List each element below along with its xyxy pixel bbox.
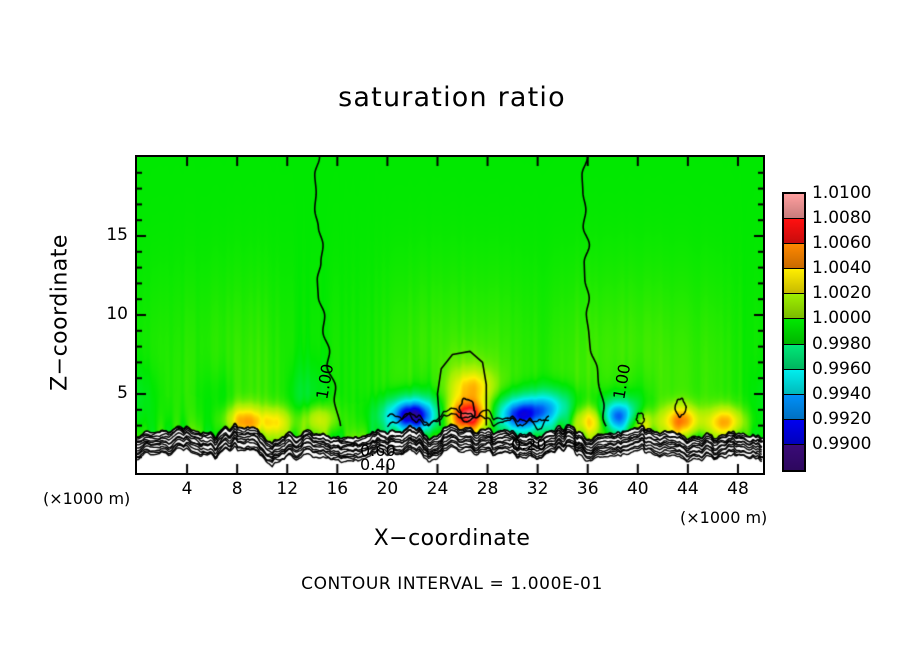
- colorbar-band-0.9920: [784, 420, 804, 445]
- colorbar-label-0.9920: 0.9920: [812, 409, 871, 429]
- x-tick-label-28: 28: [468, 479, 508, 499]
- colorbar-label-0.9940: 0.9940: [812, 384, 871, 404]
- colorbar-band-1.0060: [784, 244, 804, 269]
- colorbar-label-1.0020: 1.0020: [812, 283, 871, 303]
- y-axis-unit: (×1000 m): [43, 489, 130, 508]
- contour-field-canvas: [137, 157, 763, 473]
- x-axis-label: X−coordinate: [0, 526, 904, 551]
- y-axis-label: Z−coordinate: [48, 213, 73, 413]
- colorbar-band-1.0100: [784, 194, 804, 219]
- x-tick-label-12: 12: [267, 479, 307, 499]
- contour-label: 0.20: [511, 435, 547, 454]
- x-tick-label-48: 48: [718, 479, 758, 499]
- colorbar-label-1.0080: 1.0080: [812, 208, 871, 228]
- x-tick-label-44: 44: [668, 479, 708, 499]
- x-tick-label-20: 20: [367, 479, 407, 499]
- colorbar: [782, 192, 806, 472]
- x-tick-label-4: 4: [167, 479, 207, 499]
- colorbar-band-0.9940: [784, 395, 804, 420]
- contour-label: 0.40: [360, 455, 396, 474]
- x-tick-label-8: 8: [217, 479, 257, 499]
- colorbar-band-1.0080: [784, 219, 804, 244]
- x-axis-unit: (×1000 m): [680, 508, 767, 527]
- colorbar-band-1.0020: [784, 294, 804, 319]
- y-tick-label-15: 15: [88, 225, 128, 245]
- x-tick-label-16: 16: [317, 479, 357, 499]
- colorbar-label-0.9980: 0.9980: [812, 334, 871, 354]
- x-tick-label-32: 32: [518, 479, 558, 499]
- colorbar-label-1.0100: 1.0100: [812, 183, 871, 203]
- y-tick-label-5: 5: [88, 383, 128, 403]
- colorbar-label-1.0040: 1.0040: [812, 258, 871, 278]
- page-title: saturation ratio: [0, 82, 904, 113]
- y-tick-label-10: 10: [88, 304, 128, 324]
- x-tick-label-40: 40: [618, 479, 658, 499]
- colorbar-band-0.9960: [784, 370, 804, 395]
- colorbar-band-1.0000: [784, 319, 804, 344]
- colorbar-band-0.9900: [784, 445, 804, 470]
- x-tick-label-36: 36: [568, 479, 608, 499]
- colorbar-label-0.9900: 0.9900: [812, 434, 871, 454]
- colorbar-label-1.0060: 1.0060: [812, 233, 871, 253]
- contour-interval-caption: CONTOUR INTERVAL = 1.000E-01: [0, 574, 904, 594]
- colorbar-band-1.0040: [784, 269, 804, 294]
- colorbar-label-1.0000: 1.0000: [812, 308, 871, 328]
- colorbar-band-0.9980: [784, 345, 804, 370]
- contour-plot-area: [135, 155, 765, 475]
- x-tick-label-24: 24: [417, 479, 457, 499]
- colorbar-label-0.9960: 0.9960: [812, 359, 871, 379]
